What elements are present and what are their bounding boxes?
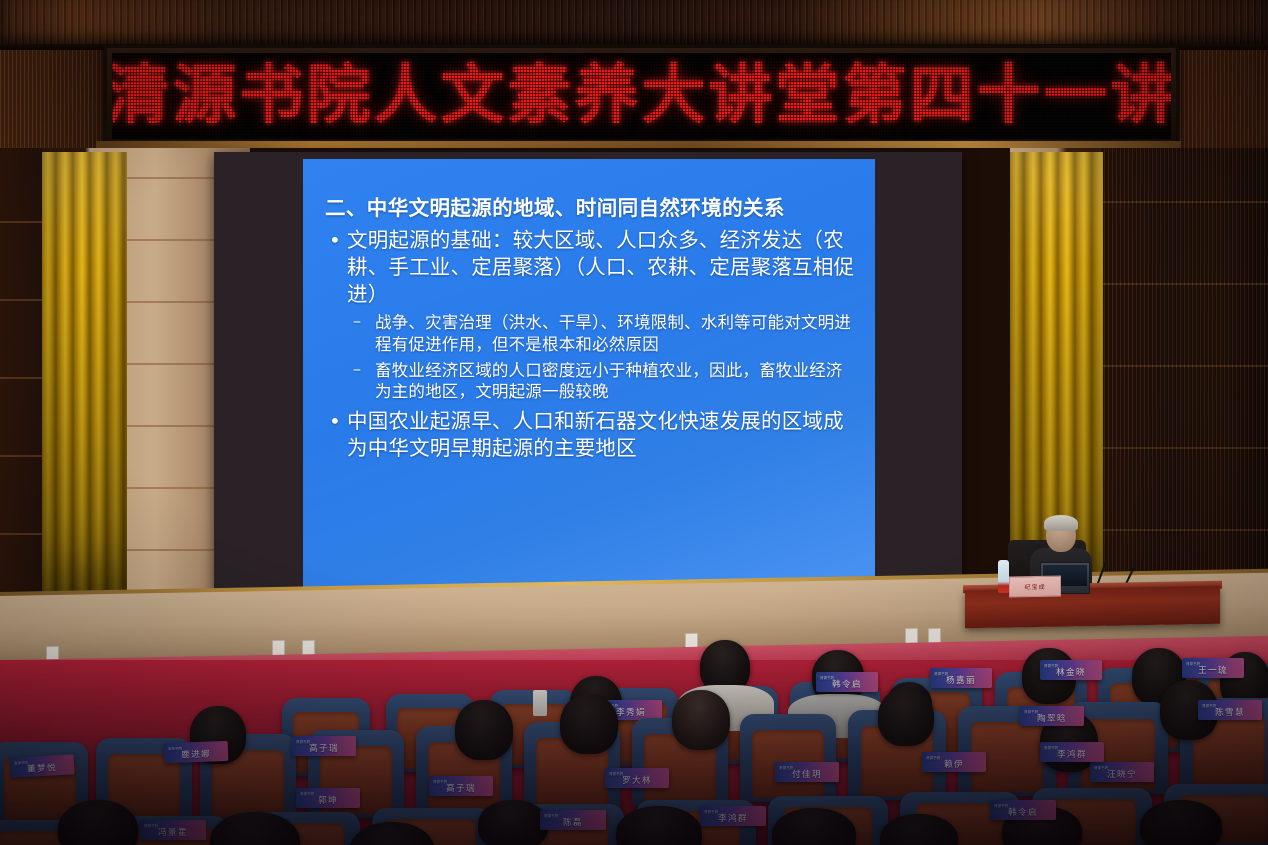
slide-bullet-2: • 中国农业起源早、人口和新石器文化快速发展的区域成为中华文明早期起源的主要地区 bbox=[325, 408, 855, 461]
presentation-slide: 二、中华文明起源的地域、时间同自然环境的关系 • 文明起源的基础：较大区域、人口… bbox=[303, 159, 875, 591]
placard-name: 鹿进娜 bbox=[181, 747, 211, 760]
led-banner-screen: 清源书院人文素养大讲堂第四十一讲 bbox=[112, 53, 1171, 139]
seat-nameplate: 清源书院 高子瑞 bbox=[292, 736, 356, 756]
audience-person-head bbox=[672, 690, 730, 750]
placard-logo: 清源书院 bbox=[14, 759, 29, 765]
seat-nameplate: 清源书院 汪晓宁 bbox=[1090, 762, 1154, 782]
seat-nameplate: 清源书院 冯景霍 bbox=[140, 820, 206, 840]
placard-name: 李鸿群 bbox=[1057, 748, 1087, 760]
bullet-dash-icon: – bbox=[353, 311, 361, 332]
audience-person-head bbox=[878, 688, 934, 746]
seat-nameplate: 清源书院 陈雪慧 bbox=[1198, 700, 1262, 720]
placard-name: 冯景霍 bbox=[158, 826, 188, 838]
seat-nameplate: 清源书院 陶翠晗 bbox=[1020, 706, 1084, 726]
slide-bullet-1-text: 文明起源的基础：较大区域、人口众多、经济发达（农耕、手工业、定居聚落）（人口、农… bbox=[347, 228, 854, 305]
seat-nameplate: 清源书院 林金晓 bbox=[1040, 660, 1102, 680]
slide-subbullet-1: – 战争、灾害治理（洪水、干旱）、环境限制、水利等可能对文明进程有促进作用，但不… bbox=[325, 312, 855, 355]
placard-logo: 清源书院 bbox=[779, 765, 793, 770]
slide-bullet-1: • 文明起源的基础：较大区域、人口众多、经济发达（农耕、手工业、定居聚落）（人口… bbox=[325, 227, 855, 307]
audience-person-head bbox=[560, 694, 618, 754]
projection-screen: 二、中华文明起源的地域、时间同自然环境的关系 • 文明起源的基础：较大区域、人口… bbox=[214, 152, 962, 612]
placard-logo: 清源书院 bbox=[934, 671, 948, 676]
seat-nameplate: 清源书院 韩令启 bbox=[990, 800, 1056, 820]
slide-title: 二、中华文明起源的地域、时间同自然环境的关系 bbox=[325, 195, 855, 221]
placard-name: 郭坤 bbox=[318, 794, 338, 806]
placard-logo: 清源书院 bbox=[296, 739, 310, 744]
placard-logo: 清源书院 bbox=[1024, 709, 1038, 714]
placard-name: 汪晓宁 bbox=[1107, 768, 1137, 780]
placard-name: 李秀娟 bbox=[616, 706, 646, 718]
audience-seat bbox=[740, 714, 836, 802]
placard-logo: 清源书院 bbox=[1186, 661, 1200, 666]
seat-nameplate: 清源书院 韩令启 bbox=[816, 672, 878, 692]
placard-logo: 清源书院 bbox=[820, 675, 834, 680]
slide-title-text: 二、中华文明起源的地域、时间同自然环境的关系 bbox=[325, 196, 785, 220]
led-banner-text: 清源书院人文素养大讲堂第四十一讲 bbox=[112, 64, 1171, 128]
ceiling-wood-slats bbox=[0, 0, 1268, 46]
placard-name: 王一琉 bbox=[1198, 664, 1228, 676]
slide-bullet-2-text: 中国农业起源早、人口和新石器文化快速发展的区域成为中华文明早期起源的主要地区 bbox=[347, 409, 844, 460]
slide-subbullet-2-text: 畜牧业经济区域的人口密度远小于种植农业，因此，畜牧业经济为主的地区，文明起源一般… bbox=[375, 361, 843, 401]
placard-name: 韩令启 bbox=[1008, 806, 1038, 818]
placard-name: 杨嘉丽 bbox=[946, 674, 976, 686]
placard-logo: 清源书院 bbox=[1044, 745, 1058, 750]
led-banner: 清源书院人文素养大讲堂第四十一讲 bbox=[104, 45, 1179, 147]
placard-logo: 清源书院 bbox=[1094, 765, 1108, 770]
placard-logo: 清源书院 bbox=[544, 813, 558, 818]
placard-name: 陈雪慧 bbox=[1215, 706, 1245, 718]
wood-panel-left bbox=[0, 148, 42, 613]
placard-name: 林金晓 bbox=[1056, 666, 1086, 678]
placard-name: 陈磊 bbox=[563, 816, 583, 828]
placard-name: 高子瑞 bbox=[309, 742, 339, 754]
seat-nameplate: 清源书院 高子瑞 bbox=[429, 776, 493, 796]
seat-nameplate: 清源书院 赖伊 bbox=[922, 752, 986, 772]
placard-name: 韩令启 bbox=[832, 678, 862, 690]
placard-name: 陶翠晗 bbox=[1037, 712, 1067, 724]
placard-name: 高子瑞 bbox=[446, 782, 476, 794]
placard-name: 付佳玥 bbox=[792, 768, 822, 780]
seat-nameplate: 清源书院 李鸿群 bbox=[700, 806, 766, 826]
audience-person-head bbox=[455, 700, 513, 760]
wood-panel-right bbox=[1100, 148, 1268, 613]
placard-logo: 清源书院 bbox=[704, 809, 718, 814]
placard-logo: 清源书院 bbox=[926, 755, 940, 760]
placard-logo: 清源书院 bbox=[994, 803, 1008, 808]
water-bottle bbox=[998, 560, 1009, 593]
placard-name: 董梦悦 bbox=[27, 761, 57, 775]
bullet-dot-icon: • bbox=[329, 227, 341, 253]
seat-nameplate: 清源书院 罗大林 bbox=[605, 768, 669, 788]
seat-nameplate: 清源书院 鹿进娜 bbox=[164, 741, 229, 763]
seat-nameplate: 清源书院 杨嘉丽 bbox=[930, 668, 992, 688]
placard-name: 李鸿群 bbox=[718, 812, 748, 824]
placard-name: 赖伊 bbox=[944, 758, 964, 770]
seat-nameplate: 清源书院 付佳玥 bbox=[775, 762, 839, 782]
placard-logo: 清源书院 bbox=[300, 791, 314, 796]
seat-nameplate: 清源书院 王一琉 bbox=[1182, 658, 1244, 678]
placard-name: 罗大林 bbox=[622, 774, 652, 786]
placard-logo: 清源书院 bbox=[433, 779, 447, 784]
placard-logo: 清源书院 bbox=[1202, 703, 1216, 708]
seat-nameplate: 清源书院 董梦悦 bbox=[10, 754, 75, 777]
seat-nameplate: 清源书院 郭坤 bbox=[296, 788, 360, 808]
placard-logo: 清源书院 bbox=[144, 823, 158, 828]
water-cup bbox=[533, 690, 547, 716]
speaker-hair bbox=[1044, 515, 1078, 531]
audience-person-head bbox=[478, 800, 548, 845]
stage-curtain-left bbox=[42, 152, 127, 614]
placard-logo: 清源书院 bbox=[168, 745, 183, 750]
placard-logo: 清源书院 bbox=[609, 771, 623, 776]
seat-nameplate: 清源书院 陈磊 bbox=[540, 810, 606, 830]
bullet-dash-icon: – bbox=[353, 359, 361, 380]
slide-subbullet-1-text: 战争、灾害治理（洪水、干旱）、环境限制、水利等可能对文明进程有促进作用，但不是根… bbox=[375, 313, 851, 353]
placard-logo: 清源书院 bbox=[1044, 663, 1058, 668]
audience-person-head bbox=[1140, 800, 1222, 845]
bullet-dot-icon: • bbox=[329, 408, 341, 434]
slide-subbullet-2: – 畜牧业经济区域的人口密度远小于种植农业，因此，畜牧业经济为主的地区，文明起源… bbox=[325, 360, 855, 403]
lecture-hall-photo: 清源书院人文素养大讲堂第四十一讲 二、中华文明起源的地域、时间同自然环境的关系 … bbox=[0, 0, 1268, 845]
seat-nameplate: 清源书院 李鸿群 bbox=[1040, 742, 1104, 762]
speaker-nameplate: 纪宝成 bbox=[1009, 576, 1061, 598]
